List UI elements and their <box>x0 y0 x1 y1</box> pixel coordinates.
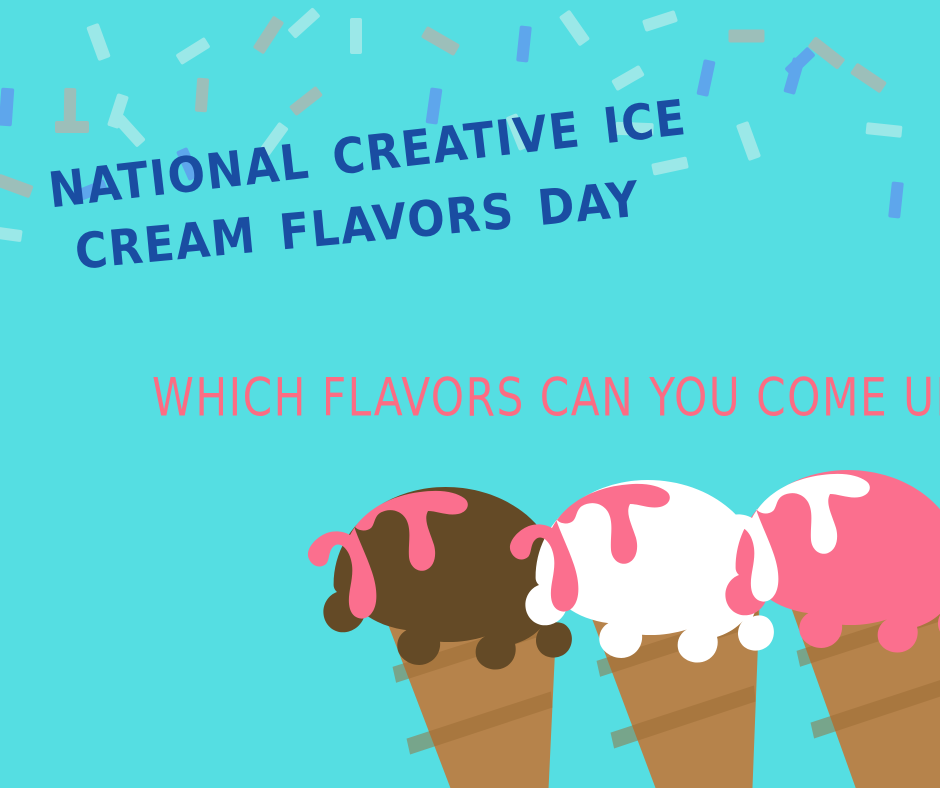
poster-canvas: National Creative Ice Cream Flavors Day … <box>0 0 940 788</box>
ice-cream-illustration <box>0 0 940 788</box>
